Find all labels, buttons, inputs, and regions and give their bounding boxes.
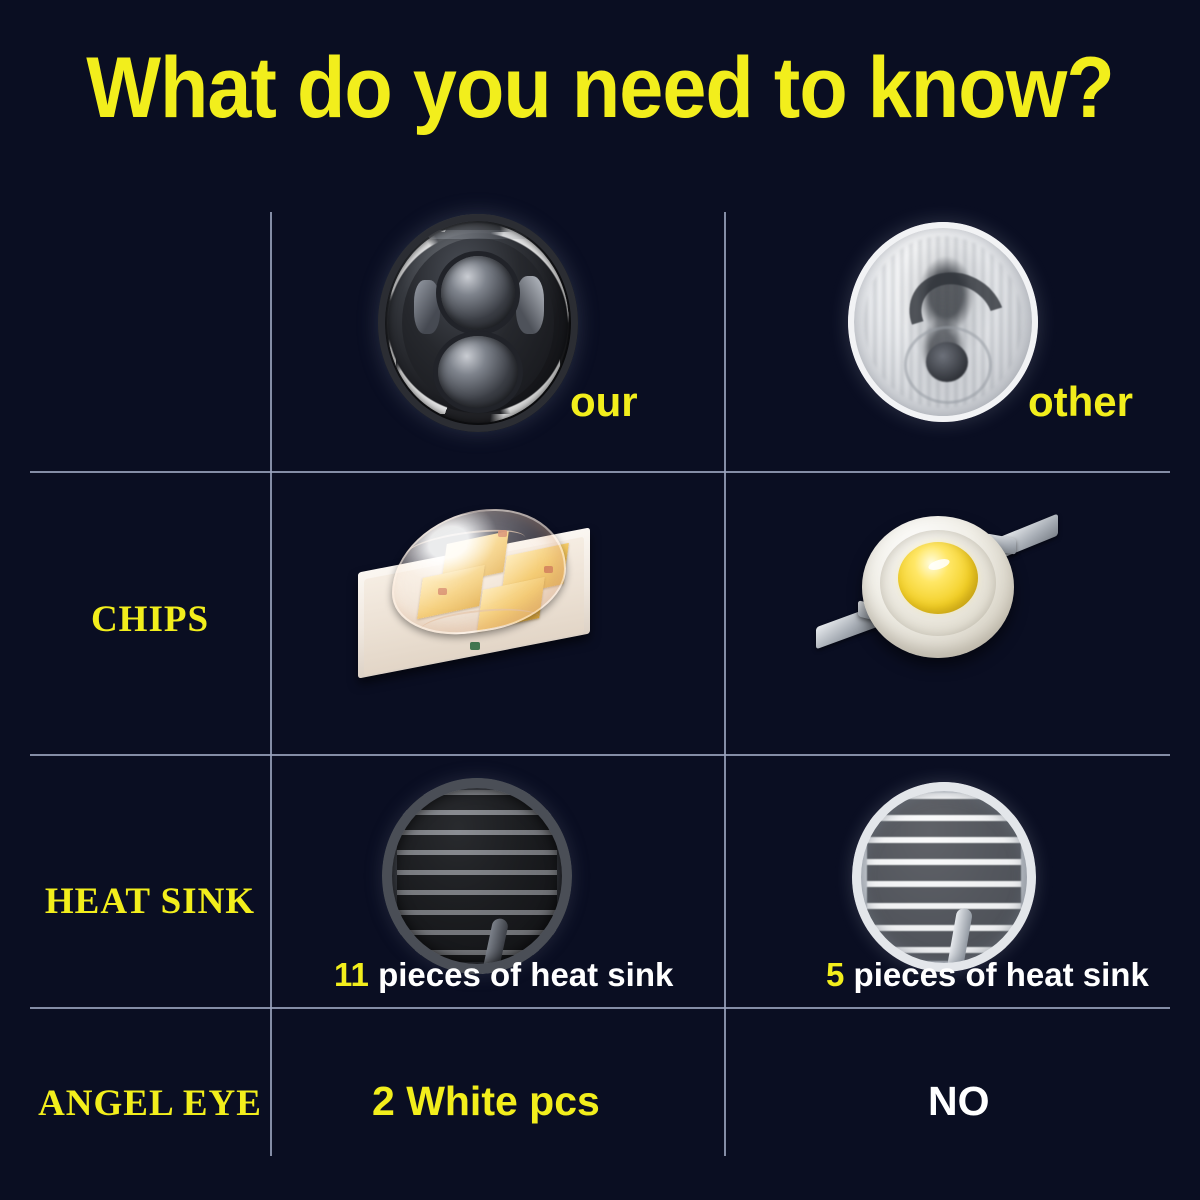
row-label-heat-sink: HEAT SINK: [30, 880, 270, 923]
caption-our-heat-sink-count: 11 pieces of heat sink: [334, 956, 673, 994]
product-image-our-heat-sink: [382, 778, 572, 974]
product-image-our-chip: [348, 492, 608, 682]
value-our-angel-eye: 2 White pcs: [372, 1078, 600, 1125]
grid-hline-row3: [30, 1007, 1170, 1009]
row-label-angel-eye: ANGEL EYE: [28, 1082, 272, 1125]
row-label-chips: CHIPS: [40, 598, 260, 641]
product-image-other-headlight: [848, 222, 1038, 422]
comparison-infographic: What do you need to know? our other CHIP…: [0, 0, 1200, 1200]
product-image-other-heat-sink: [852, 782, 1036, 972]
headlight-rim: [378, 214, 578, 432]
chip-polarity-marker: [470, 642, 480, 650]
heat-sink-count-other: 5: [826, 956, 844, 993]
headlight-rim: [848, 222, 1038, 422]
heat-sink-outer-ring: [382, 778, 572, 974]
page-title: What do you need to know?: [48, 42, 1152, 134]
grid-vline-col1: [270, 212, 272, 1156]
product-image-other-chip: [810, 500, 1060, 680]
heat-sink-count-our: 11: [334, 956, 369, 993]
grid-vline-col2: [724, 212, 726, 1156]
emitter-phosphor-dome: [898, 542, 978, 614]
grid-hline-row2: [30, 754, 1170, 756]
caption-other-heat-sink-count: 5 pieces of heat sink: [826, 956, 1149, 994]
grid-hline-row1: [30, 471, 1170, 473]
heat-sink-outer-ring: [852, 782, 1036, 972]
heat-sink-count-other-unit: pieces of heat sink: [854, 956, 1149, 993]
label-our: our: [570, 378, 638, 426]
product-image-our-headlight: [378, 214, 578, 432]
label-other: other: [1028, 378, 1133, 426]
value-other-angel-eye: NO: [928, 1078, 990, 1125]
heat-sink-count-our-unit: pieces of heat sink: [378, 956, 673, 993]
